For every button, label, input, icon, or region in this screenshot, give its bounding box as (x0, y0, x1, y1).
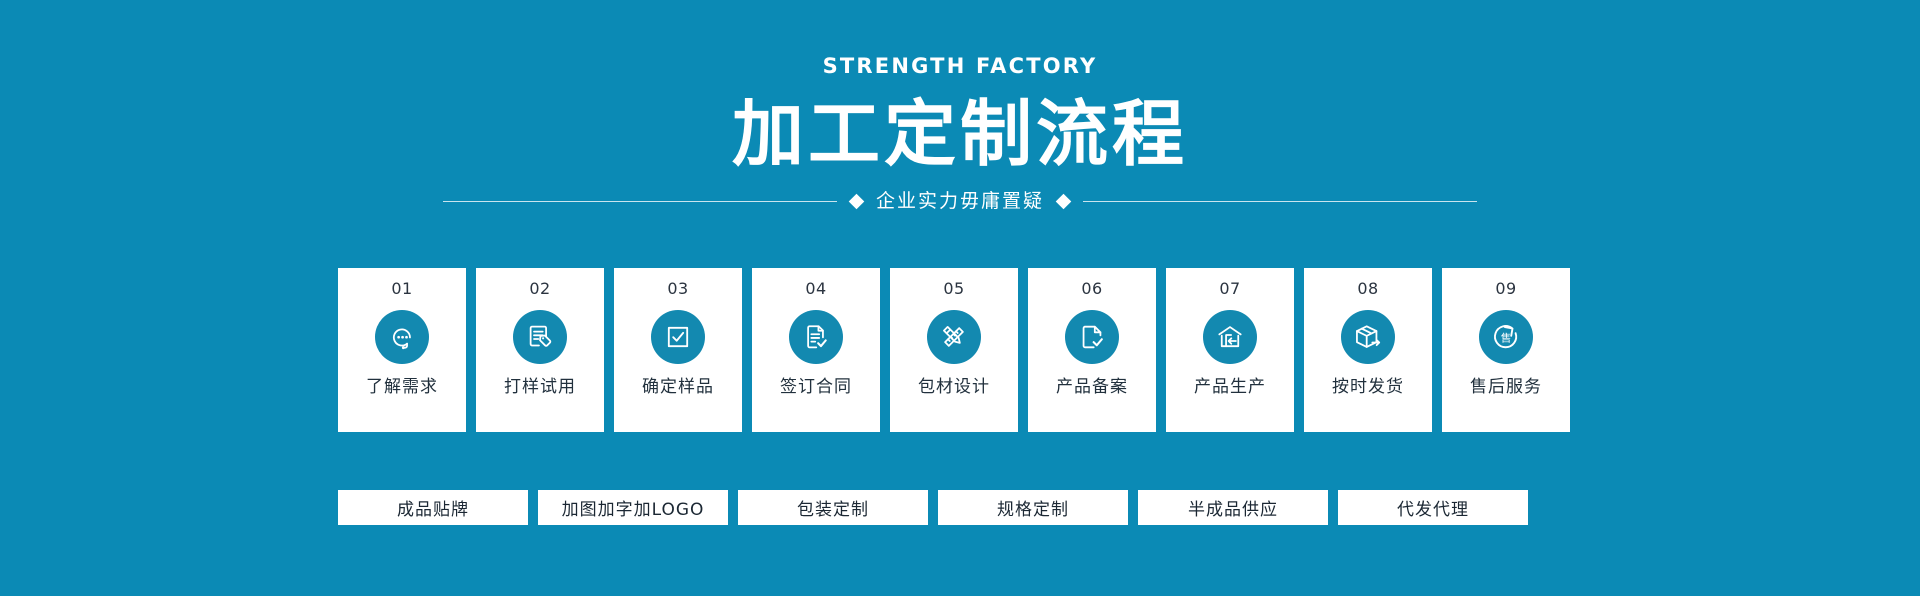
tag-label: 成品贴牌 (397, 495, 469, 520)
box-arrow-icon (1341, 310, 1395, 364)
process-step-card-03[interactable]: 03 确定样品 (614, 268, 742, 432)
service-tag-packaging-custom[interactable]: 包装定制 (738, 490, 928, 525)
diamond-right-icon (1056, 193, 1072, 209)
step-label: 产品生产 (1194, 379, 1266, 396)
document-tag-icon (513, 310, 567, 364)
process-step-card-04[interactable]: 04 签订合同 (752, 268, 880, 432)
service-tag-semi-finished-supply[interactable]: 半成品供应 (1138, 490, 1328, 525)
factory-arrow-icon (1203, 310, 1257, 364)
tag-label: 包装定制 (797, 495, 869, 520)
file-check-icon (1065, 310, 1119, 364)
process-step-card-02[interactable]: 02 打样试用 (476, 268, 604, 432)
step-label: 按时发货 (1332, 379, 1404, 396)
tag-label: 加图加字加LOGO (562, 495, 705, 520)
tag-label: 规格定制 (997, 495, 1069, 520)
eyebrow-text: STRENGTH FACTORY (0, 56, 1920, 77)
process-step-card-06[interactable]: 06 产品备案 (1028, 268, 1156, 432)
step-label: 售后服务 (1470, 379, 1542, 396)
service-tag-add-image-text-logo[interactable]: 加图加字加LOGO (538, 490, 728, 525)
service-tag-finished-product-oem[interactable]: 成品贴牌 (338, 490, 528, 525)
step-number: 07 (1219, 281, 1240, 297)
contract-check-icon (789, 310, 843, 364)
subtitle-text: 企业实力毋庸置疑 (876, 192, 1044, 211)
step-number: 05 (943, 281, 964, 297)
tag-label: 代发代理 (1397, 495, 1469, 520)
service-tag-list: 成品贴牌 加图加字加LOGO 包装定制 规格定制 半成品供应 代发代理 (338, 490, 1582, 525)
svg-text:售: 售 (1501, 331, 1512, 344)
service-tag-dropshipping-agency[interactable]: 代发代理 (1338, 490, 1528, 525)
speech-bubble-headset-icon (375, 310, 429, 364)
step-number: 04 (805, 281, 826, 297)
subtitle-row: 企业实力毋庸置疑 (443, 188, 1477, 214)
step-number: 06 (1081, 281, 1102, 297)
banner-header: STRENGTH FACTORY 加工定制流程 (0, 0, 1920, 173)
process-step-card-08[interactable]: 08 按时发货 (1304, 268, 1432, 432)
step-number: 02 (529, 281, 550, 297)
step-label: 打样试用 (504, 379, 576, 396)
step-label: 产品备案 (1056, 379, 1128, 396)
diamond-left-icon (849, 193, 865, 209)
pencil-ruler-icon (927, 310, 981, 364)
step-label: 了解需求 (366, 379, 438, 396)
after-sale-refresh-icon: 售 (1479, 310, 1533, 364)
process-step-card-09[interactable]: 09 售 售后服务 (1442, 268, 1570, 432)
step-label: 确定样品 (642, 379, 714, 396)
process-step-card-07[interactable]: 07 产品生产 (1166, 268, 1294, 432)
process-step-card-05[interactable]: 05 包材设计 (890, 268, 1018, 432)
step-number: 09 (1495, 281, 1516, 297)
tag-label: 半成品供应 (1188, 495, 1278, 520)
process-step-list: 01 了解需求 02 (338, 268, 1582, 432)
step-number: 08 (1357, 281, 1378, 297)
divider-right (1083, 201, 1477, 202)
step-number: 01 (391, 281, 412, 297)
step-label: 签订合同 (780, 379, 852, 396)
checkbox-check-icon (651, 310, 705, 364)
divider-left (443, 201, 837, 202)
process-step-card-01[interactable]: 01 了解需求 (338, 268, 466, 432)
service-tag-spec-custom[interactable]: 规格定制 (938, 490, 1128, 525)
step-label: 包材设计 (918, 379, 990, 396)
step-number: 03 (667, 281, 688, 297)
page-title: 加工定制流程 (0, 97, 1920, 173)
custom-process-banner: STRENGTH FACTORY 加工定制流程 企业实力毋庸置疑 01 (0, 0, 1920, 596)
